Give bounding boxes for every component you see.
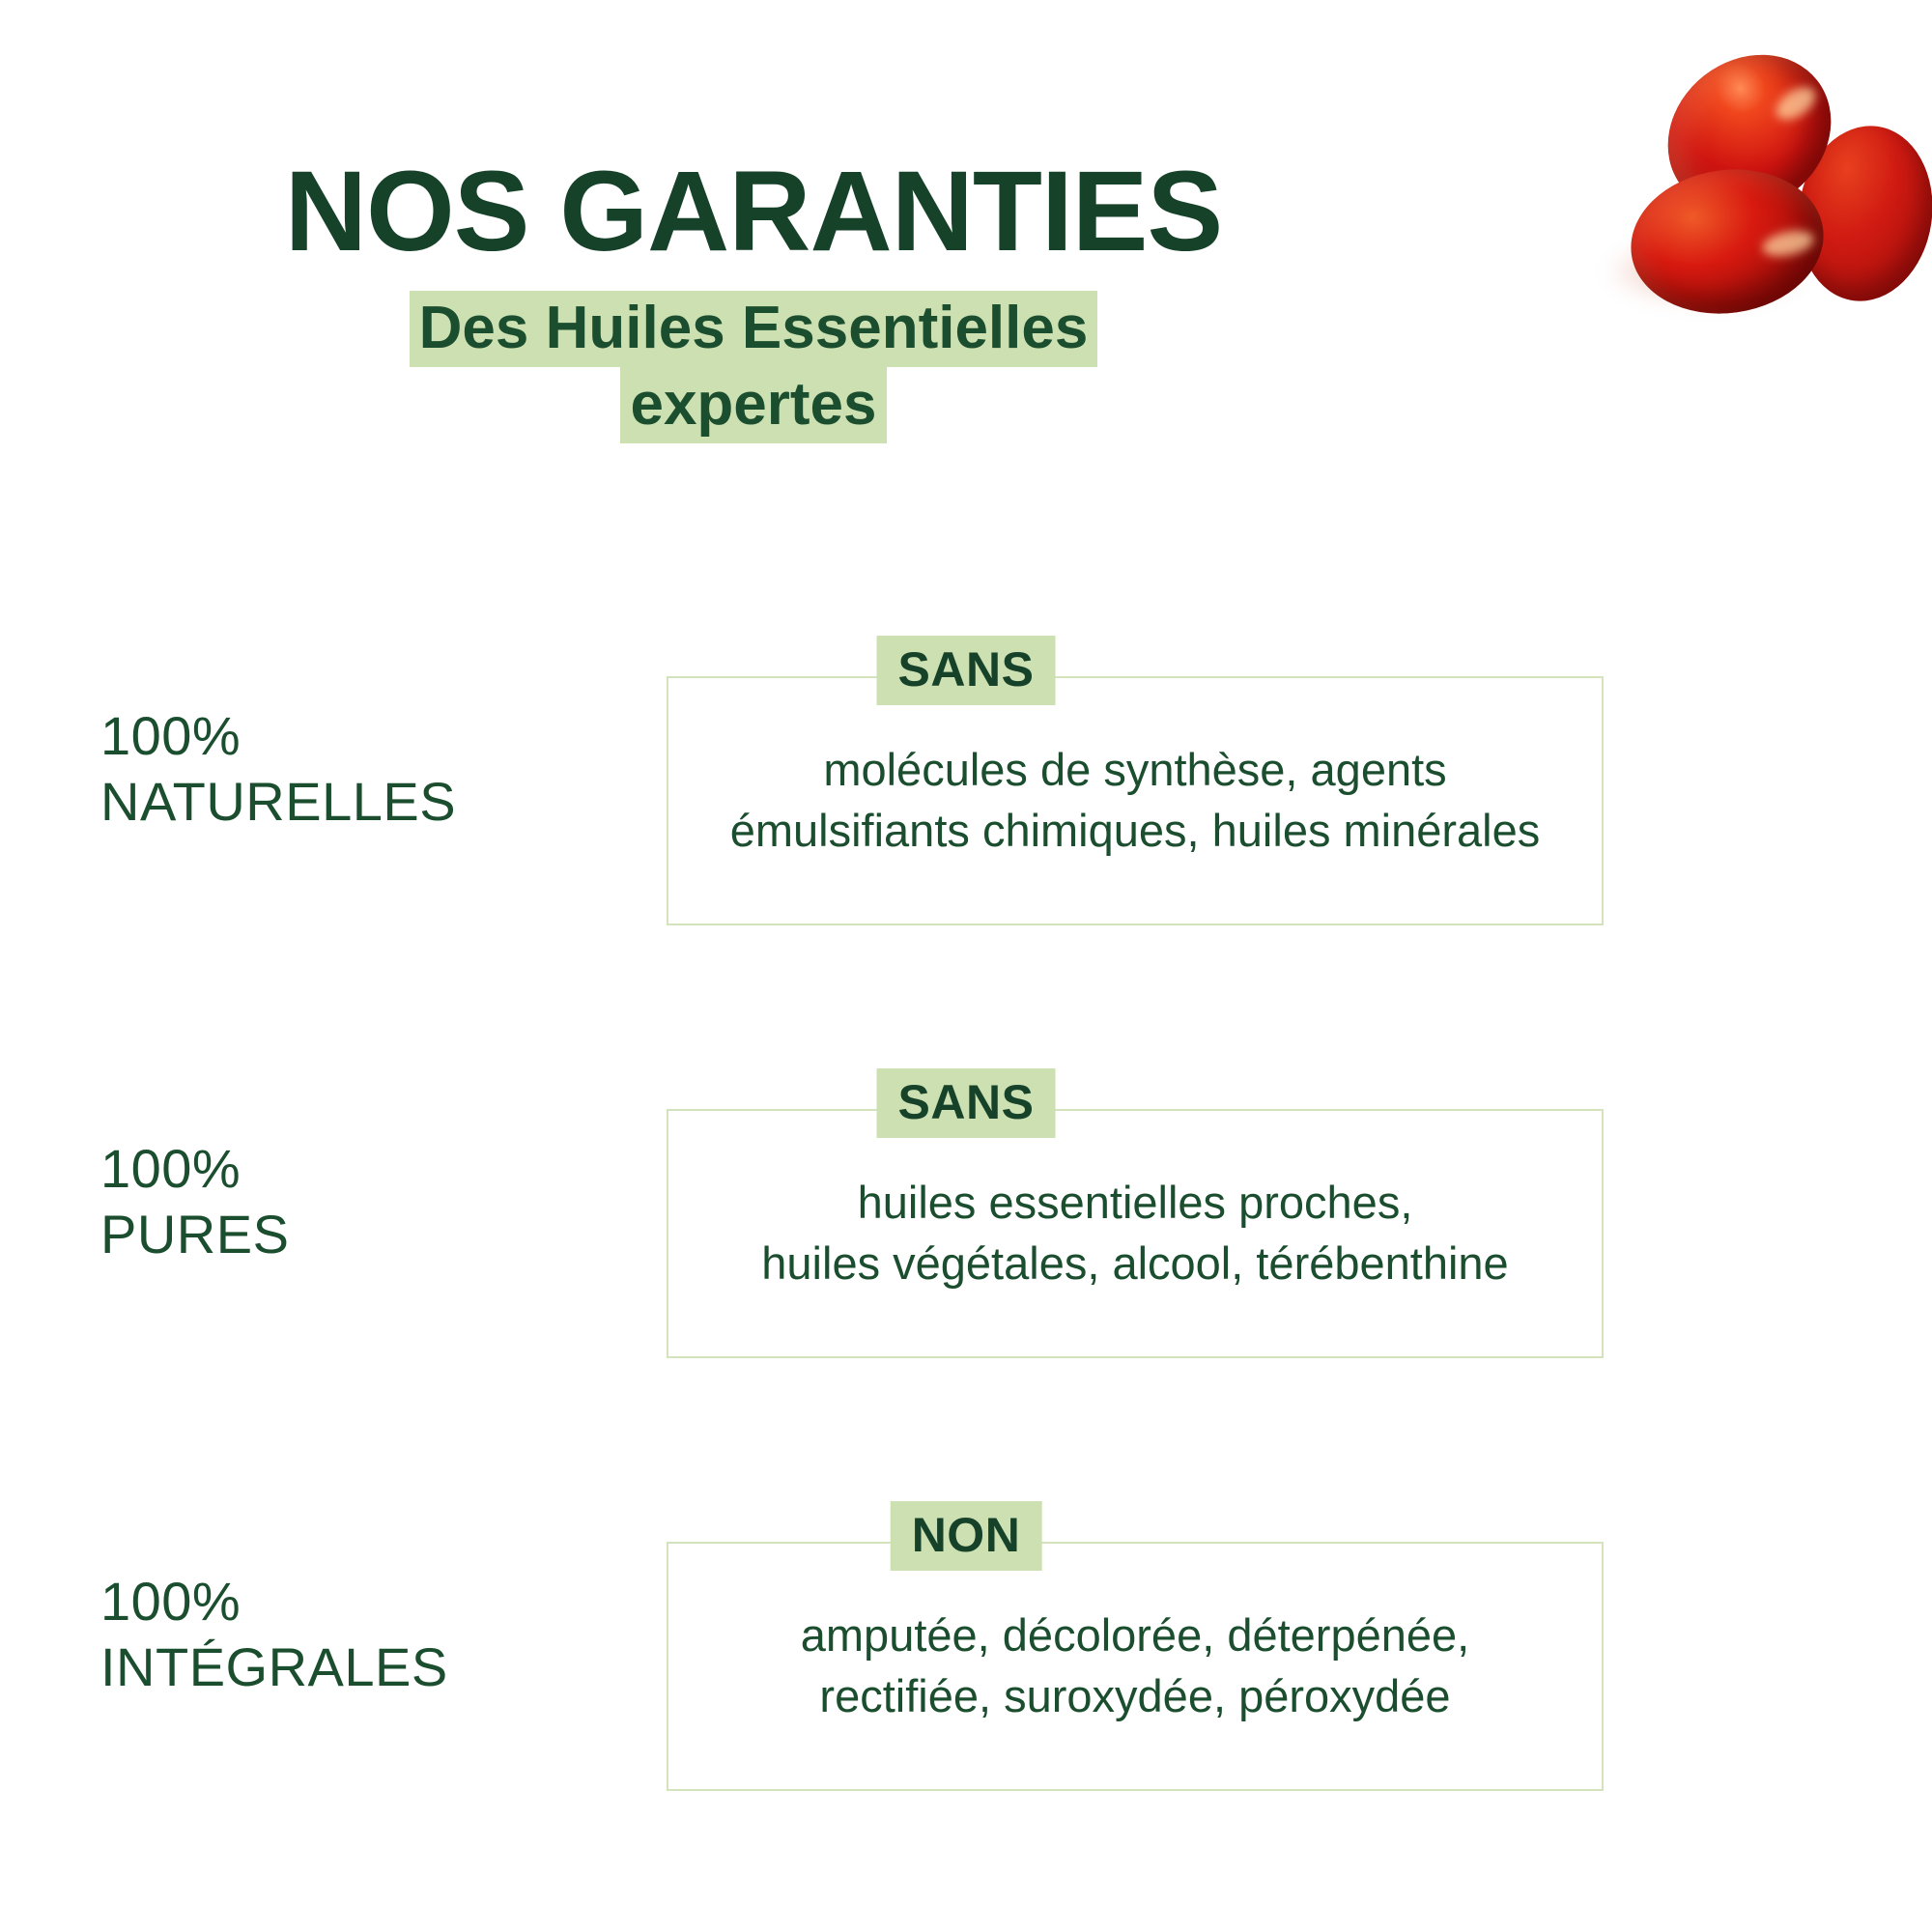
subtitle-line-2: expertes [620, 367, 886, 443]
guarantee-label-naturelles: 100% NATURELLES [100, 703, 506, 836]
guarantee-row: 100% PURES SANS huiles essentielles proc… [0, 1051, 1932, 1389]
exclusions-line-2: huiles végétales, alcool, térébenthine [761, 1237, 1508, 1289]
page-subtitle: Des Huiles Essentielles expertes [0, 290, 1507, 443]
guarantee-percent: 100% [100, 1569, 506, 1634]
guarantee-row: 100% NATURELLES SANS molécules de synthè… [0, 618, 1932, 956]
page-title: NOS GARANTIES [0, 155, 1507, 269]
guarantee-percent: 100% [100, 703, 506, 769]
exclusions-box: huiles essentielles proches, huiles végé… [667, 1109, 1604, 1358]
status-badge: SANS [877, 1068, 1056, 1138]
exclusions-text: molécules de synthèse, agents émulsifian… [703, 740, 1568, 862]
guarantee-row: 100% INTÉGRALES NON amputée, décolorée, … [0, 1484, 1932, 1822]
exclusions-line-1: huiles essentielles proches, [858, 1177, 1413, 1228]
guarantee-label-integrales: 100% INTÉGRALES [100, 1569, 506, 1701]
exclusions-line-2: rectifiée, suroxydée, péroxydée [819, 1670, 1450, 1721]
guarantee-label-pures: 100% PURES [100, 1136, 506, 1268]
subtitle-line-1: Des Huiles Essentielles [410, 291, 1098, 367]
red-capsules-image [1584, 29, 1932, 319]
exclusions-text: amputée, décolorée, déterpénée, rectifié… [774, 1605, 1496, 1727]
guarantee-word: INTÉGRALES [100, 1634, 506, 1700]
status-badge: NON [891, 1501, 1042, 1571]
guarantees-list: 100% NATURELLES SANS molécules de synthè… [0, 618, 1932, 1917]
guarantee-percent: 100% [100, 1136, 506, 1202]
exclusions-box: molécules de synthèse, agents émulsifian… [667, 676, 1604, 925]
exclusions-line-2: émulsifiants chimiques, huiles minérales [730, 805, 1541, 856]
guarantee-word: PURES [100, 1202, 506, 1267]
header-block: NOS GARANTIES Des Huiles Essentielles ex… [0, 155, 1507, 443]
exclusions-text: huiles essentielles proches, huiles végé… [734, 1173, 1535, 1294]
status-badge: SANS [877, 636, 1056, 705]
exclusions-line-1: amputée, décolorée, déterpénée, [801, 1609, 1469, 1661]
exclusions-line-1: molécules de synthèse, agents [823, 744, 1446, 795]
guarantee-word: NATURELLES [100, 769, 506, 835]
exclusions-box: amputée, décolorée, déterpénée, rectifié… [667, 1542, 1604, 1791]
